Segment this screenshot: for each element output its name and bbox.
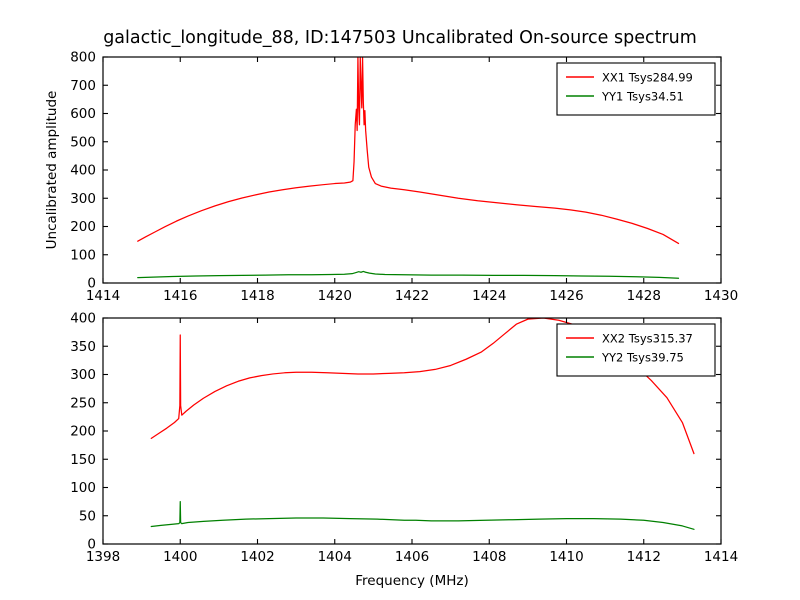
y-tick-label: 250 bbox=[70, 395, 96, 411]
x-tick-label: 1422 bbox=[395, 288, 429, 304]
plot-canvas: 1414141614181420142214241426142814300100… bbox=[0, 0, 800, 600]
axes-panel-top: 1414141614181420142214241426142814300100… bbox=[44, 50, 738, 305]
y-tick-label: 350 bbox=[70, 339, 96, 355]
x-tick-label: 1430 bbox=[704, 288, 738, 304]
spectrum-figure: galactic_longitude_88, ID:147503 Uncalib… bbox=[0, 0, 800, 600]
x-tick-label: 1410 bbox=[549, 549, 583, 565]
x-tick-label: 1424 bbox=[472, 288, 506, 304]
x-tick-label: 1404 bbox=[318, 549, 352, 565]
x-tick-label: 1402 bbox=[240, 549, 274, 565]
x-tick-label: 1418 bbox=[240, 288, 274, 304]
y-tick-label: 150 bbox=[70, 452, 96, 468]
legend-label-xx1: XX1 Tsys284.99 bbox=[602, 71, 693, 85]
y-tick-label: 100 bbox=[70, 247, 96, 263]
x-tick-label: 1428 bbox=[627, 288, 661, 304]
x-axis-label: Frequency (MHz) bbox=[355, 573, 468, 589]
x-tick-label: 1420 bbox=[318, 288, 352, 304]
y-tick-label: 300 bbox=[70, 367, 96, 383]
x-tick-label: 1406 bbox=[395, 549, 429, 565]
x-tick-label: 1416 bbox=[163, 288, 197, 304]
y-tick-label: 400 bbox=[70, 163, 96, 179]
y-tick-label: 400 bbox=[70, 311, 96, 327]
legend-label-yy2: YY2 Tsys39.75 bbox=[601, 351, 684, 365]
y-tick-label: 50 bbox=[79, 508, 96, 524]
y-tick-label: 800 bbox=[70, 50, 96, 66]
x-tick-label: 1414 bbox=[704, 549, 738, 565]
series-line-yy2 bbox=[151, 502, 694, 530]
legend-bottom: XX2 Tsys315.37YY2 Tsys39.75 bbox=[557, 324, 715, 376]
y-tick-label: 200 bbox=[70, 424, 96, 440]
y-tick-label: 500 bbox=[70, 134, 96, 150]
y-tick-label: 300 bbox=[70, 191, 96, 207]
y-tick-label: 600 bbox=[70, 106, 96, 122]
x-tick-label: 1412 bbox=[627, 549, 661, 565]
legend-top: XX1 Tsys284.99YY1 Tsys34.51 bbox=[557, 63, 715, 115]
x-tick-label: 1408 bbox=[472, 549, 506, 565]
y-tick-label: 0 bbox=[87, 276, 96, 292]
x-tick-label: 1426 bbox=[549, 288, 583, 304]
axes-panel-bottom: 1398140014021404140614081410141214140501… bbox=[70, 311, 738, 590]
y-tick-label: 0 bbox=[87, 537, 96, 553]
y-tick-label: 200 bbox=[70, 219, 96, 235]
legend-label-xx2: XX2 Tsys315.37 bbox=[602, 332, 693, 346]
y-axis-label: Uncalibrated amplitude bbox=[44, 91, 60, 250]
y-tick-label: 100 bbox=[70, 480, 96, 496]
x-tick-label: 1400 bbox=[163, 549, 197, 565]
legend-label-yy1: YY1 Tsys34.51 bbox=[601, 90, 684, 104]
series-line-yy1 bbox=[138, 271, 679, 278]
y-tick-label: 700 bbox=[70, 78, 96, 94]
